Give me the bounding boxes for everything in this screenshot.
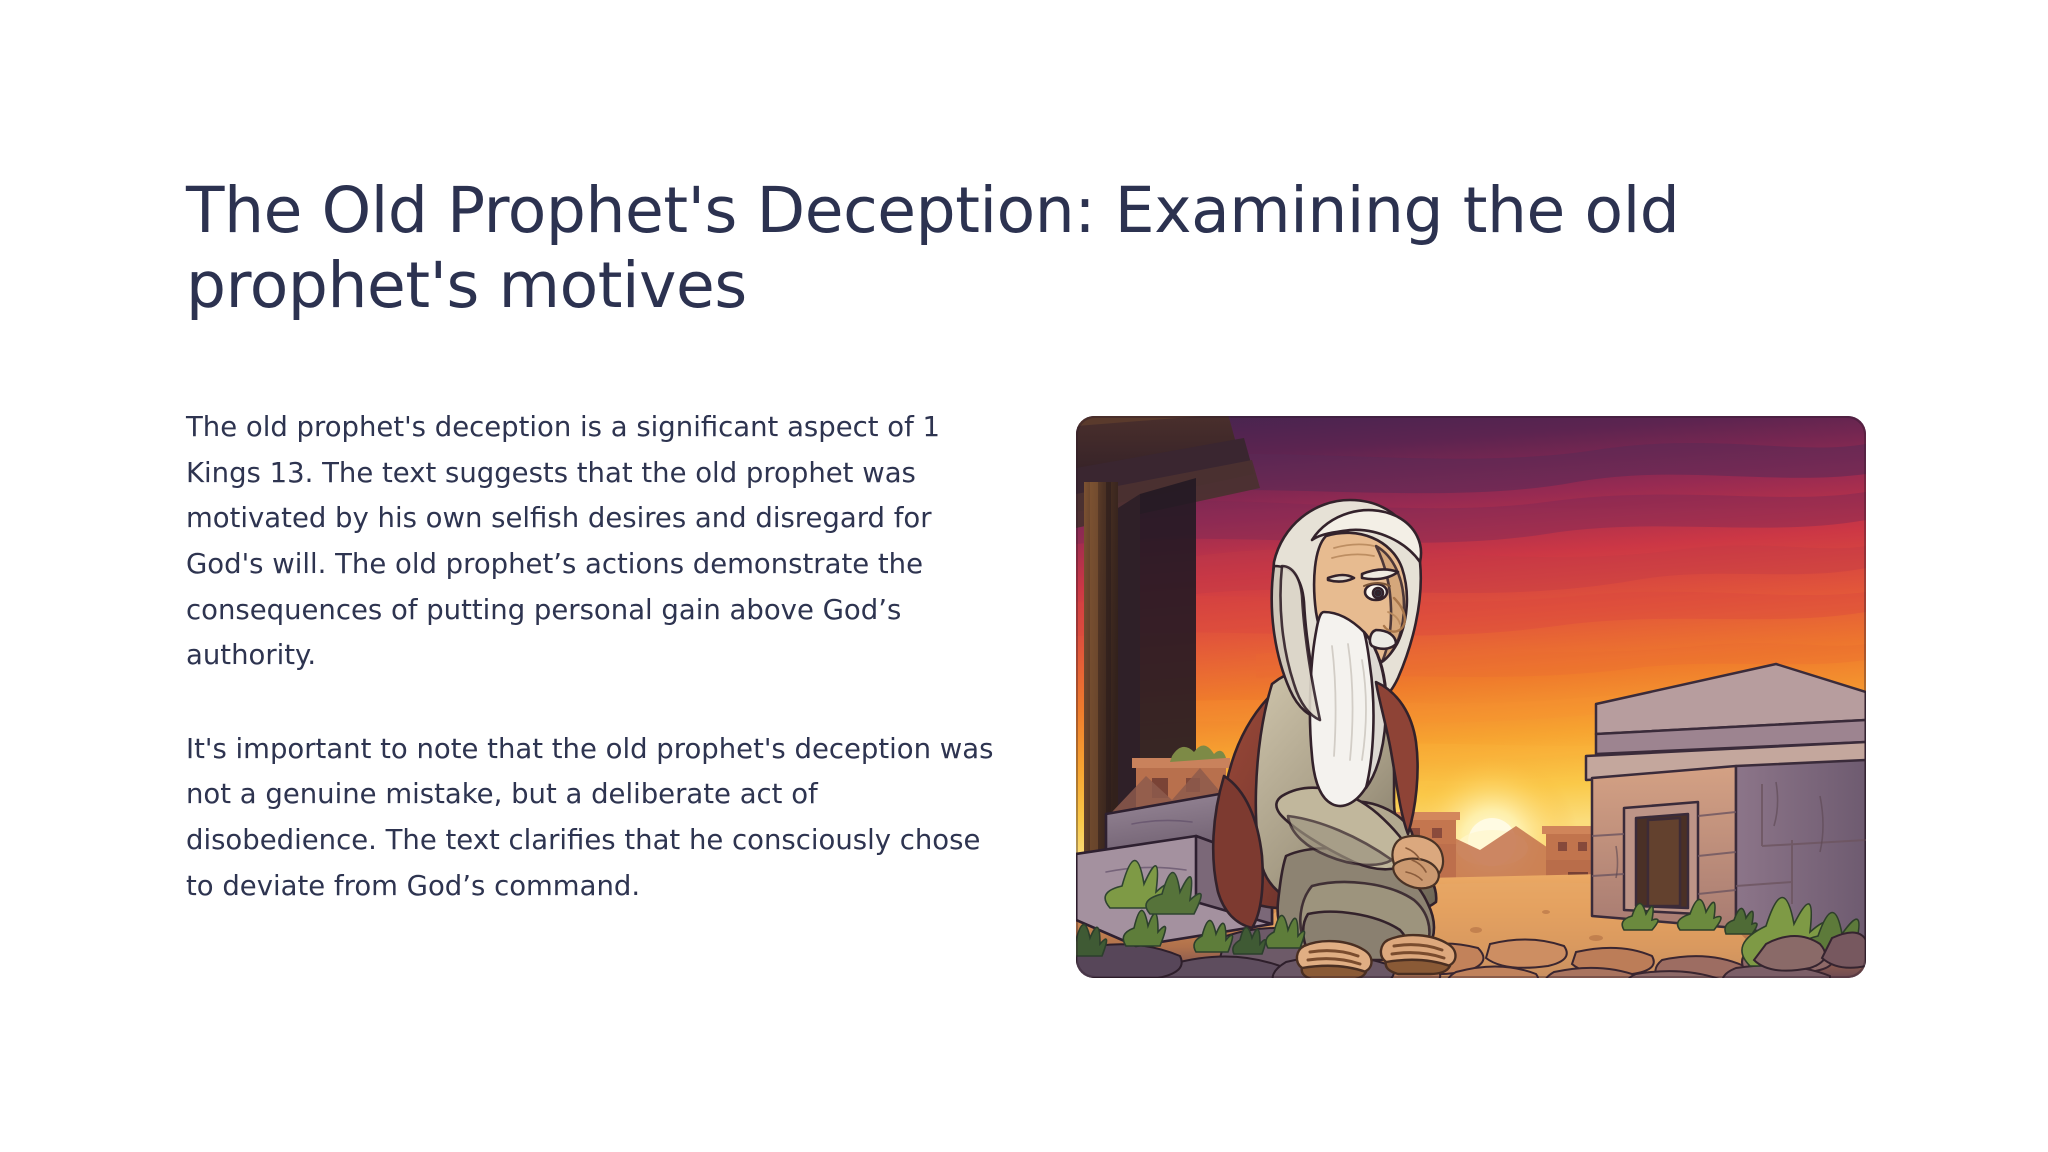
illustration-canvas [1076, 416, 1866, 978]
body-text-column: The old prophet's deception is a signifi… [186, 405, 1006, 909]
body-paragraph-1: The old prophet's deception is a signifi… [186, 405, 1006, 679]
page-title: The Old Prophet's Deception: Examining t… [186, 174, 1816, 323]
illustration-scene [1076, 416, 1866, 978]
slide-root: The Old Prophet's Deception: Examining t… [0, 0, 2048, 1152]
old-prophet-at-sunset-illustration [1076, 416, 1866, 978]
body-paragraph-2: It's important to note that the old prop… [186, 727, 1006, 910]
